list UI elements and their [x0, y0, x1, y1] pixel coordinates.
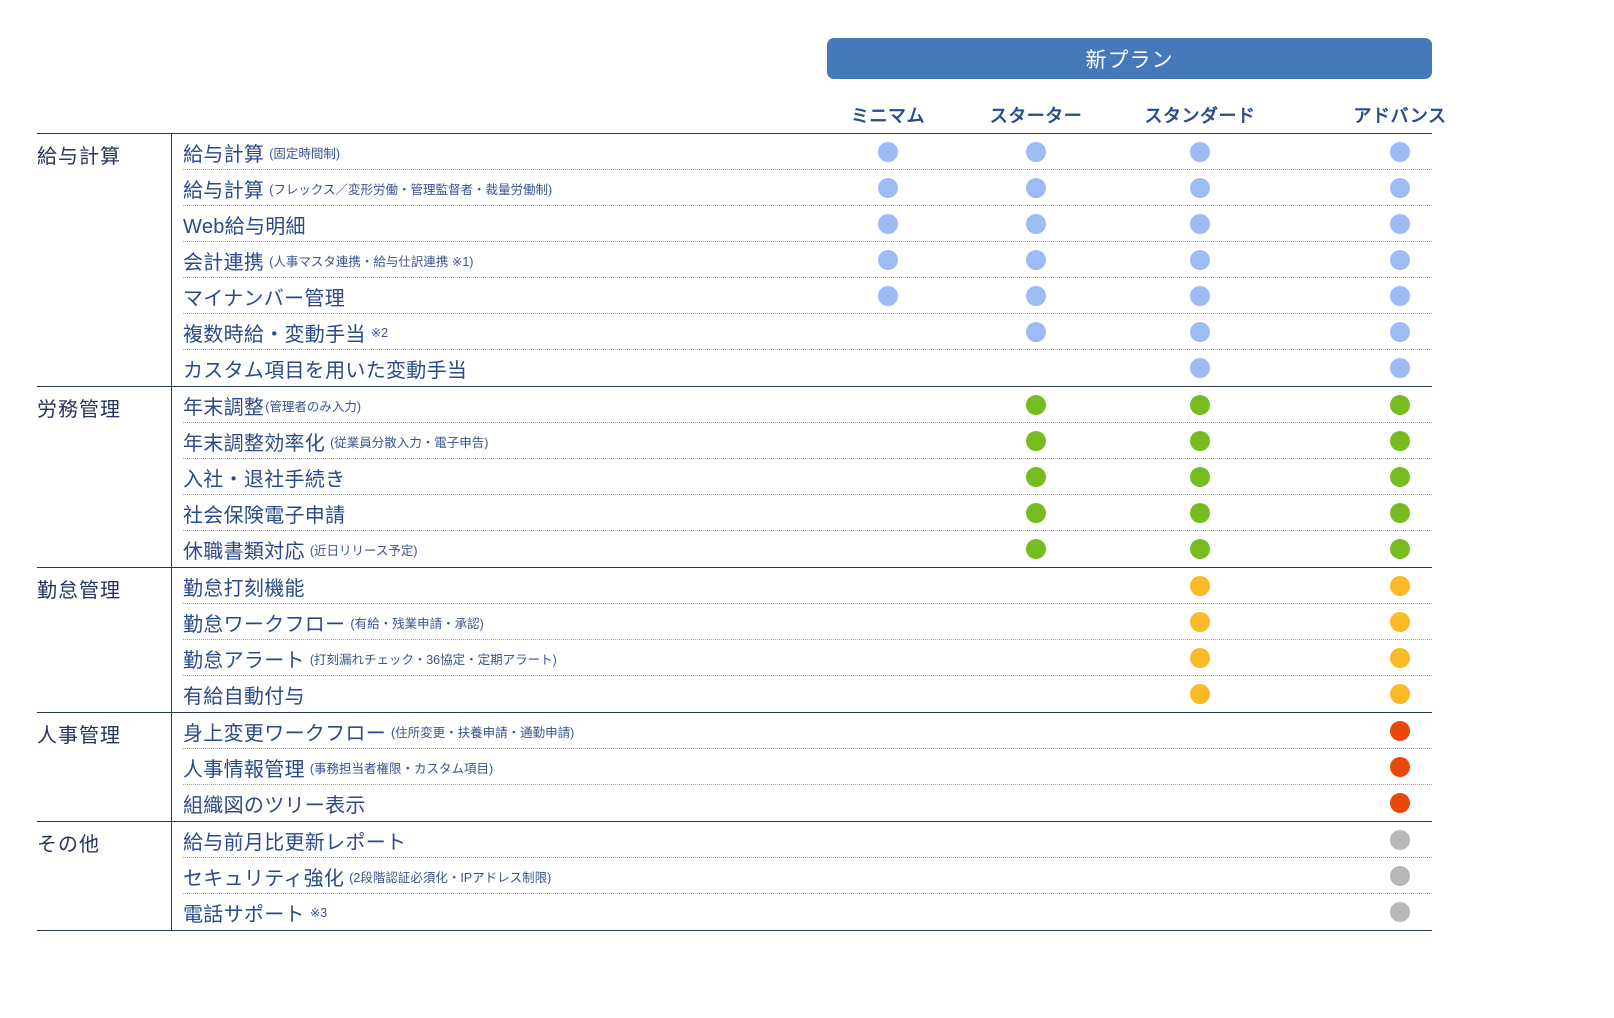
availability-dot-minimum — [878, 214, 898, 234]
availability-dot-standard — [1190, 684, 1210, 704]
feature-name: 給与計算 — [183, 138, 264, 167]
feature-row: 休職書類対応(近日リリース予定) — [183, 531, 1432, 567]
group-rows: 給与前月比更新レポートセキュリティ強化(2段階認証必須化・IPアドレス制限)電話… — [183, 822, 1432, 930]
feature-row: 組織図のツリー表示 — [183, 785, 1432, 821]
column-header-minimum: ミニマム — [851, 102, 925, 128]
availability-dot-advance — [1390, 431, 1410, 451]
feature-row: 給与計算(フレックス／変形労働・管理監督者・裁量労働制) — [183, 170, 1432, 206]
feature-note: ※3 — [310, 905, 327, 920]
category-label-0: 給与計算 — [37, 134, 163, 169]
availability-dot-starter — [1026, 286, 1046, 306]
availability-dot-advance — [1390, 866, 1410, 886]
feature-name: 勤怠アラート — [183, 644, 305, 673]
feature-label: 組織図のツリー表示 — [183, 785, 366, 821]
category-label-1: 労務管理 — [37, 387, 163, 422]
availability-dot-standard — [1190, 395, 1210, 415]
feature-name: 有給自動付与 — [183, 680, 305, 709]
feature-group: 人事管理身上変更ワークフロー(住所変更・扶養申請・通勤申請)人事情報管理(事務担… — [37, 712, 1432, 821]
feature-label: 有給自動付与 — [183, 676, 305, 712]
availability-dot-starter — [1026, 250, 1046, 270]
feature-row: 勤怠ワークフロー(有給・残業申請・承認) — [183, 604, 1432, 640]
availability-dot-starter — [1026, 214, 1046, 234]
feature-group: その他給与前月比更新レポートセキュリティ強化(2段階認証必須化・IPアドレス制限… — [37, 821, 1432, 930]
availability-dot-advance — [1390, 322, 1410, 342]
feature-row: 給与前月比更新レポート — [183, 822, 1432, 858]
group-body: 人事管理身上変更ワークフロー(住所変更・扶養申請・通勤申請)人事情報管理(事務担… — [37, 713, 1432, 821]
availability-dot-standard — [1190, 214, 1210, 234]
availability-dot-standard — [1190, 250, 1210, 270]
group-body: その他給与前月比更新レポートセキュリティ強化(2段階認証必須化・IPアドレス制限… — [37, 822, 1432, 930]
feature-name: 勤怠ワークフロー — [183, 608, 345, 637]
feature-row: 会計連携(人事マスタ連携・給与仕訳連携 ※1) — [183, 242, 1432, 278]
feature-label: 年末調整効率化(従業員分散入力・電子申告) — [183, 423, 488, 459]
column-header-standard: スタンダード — [1145, 102, 1256, 128]
feature-note: (人事マスタ連携・給与仕訳連携 ※1) — [269, 251, 473, 270]
feature-note: (2段階認証必須化・IPアドレス制限) — [349, 867, 551, 886]
group-body: 勤怠管理勤怠打刻機能勤怠ワークフロー(有給・残業申請・承認)勤怠アラート(打刻漏… — [37, 568, 1432, 712]
feature-note: (住所変更・扶養申請・通勤申請) — [391, 722, 574, 741]
availability-dot-starter — [1026, 178, 1046, 198]
table-bottom-divider — [37, 930, 1432, 931]
feature-name: 身上変更ワークフロー — [183, 717, 386, 746]
feature-name: 組織図のツリー表示 — [183, 789, 366, 818]
availability-dot-advance — [1390, 830, 1410, 850]
availability-dot-minimum — [878, 286, 898, 306]
feature-label: カスタム項目を用いた変動手当 — [183, 350, 467, 386]
availability-dot-advance — [1390, 395, 1410, 415]
comparison-sheet: 新プラン ミニマムスタータースタンダードアドバンス 給与計算給与計算(固定時間制… — [0, 0, 1614, 1018]
availability-dot-standard — [1190, 467, 1210, 487]
availability-dot-advance — [1390, 612, 1410, 632]
availability-dot-advance — [1390, 684, 1410, 704]
availability-dot-advance — [1390, 214, 1410, 234]
availability-dot-standard — [1190, 576, 1210, 596]
feature-note: (事務担当者権限・カスタム項目) — [310, 758, 493, 777]
feature-name: セキュリティ強化 — [183, 862, 344, 891]
availability-dot-standard — [1190, 648, 1210, 668]
feature-name: 電話サポート — [183, 898, 305, 927]
column-header-starter: スターター — [990, 102, 1083, 128]
feature-row: 有給自動付与 — [183, 676, 1432, 712]
category-column-divider — [171, 134, 172, 386]
feature-table: 給与計算給与計算(固定時間制)給与計算(フレックス／変形労働・管理監督者・裁量労… — [37, 133, 1432, 931]
feature-label: 会計連携(人事マスタ連携・給与仕訳連携 ※1) — [183, 242, 473, 278]
feature-label: 社会保険電子申請 — [183, 495, 345, 531]
availability-dot-advance — [1390, 467, 1410, 487]
feature-name: 給与計算 — [183, 174, 264, 203]
availability-dot-standard — [1190, 358, 1210, 378]
feature-row: 人事情報管理(事務担当者権限・カスタム項目) — [183, 749, 1432, 785]
feature-group: 勤怠管理勤怠打刻機能勤怠ワークフロー(有給・残業申請・承認)勤怠アラート(打刻漏… — [37, 567, 1432, 712]
availability-dot-advance — [1390, 250, 1410, 270]
feature-note: (従業員分散入力・電子申告) — [330, 432, 488, 451]
availability-dot-advance — [1390, 539, 1410, 559]
group-rows: 勤怠打刻機能勤怠ワークフロー(有給・残業申請・承認)勤怠アラート(打刻漏れチェッ… — [183, 568, 1432, 712]
availability-dot-advance — [1390, 721, 1410, 741]
feature-row: 身上変更ワークフロー(住所変更・扶養申請・通勤申請) — [183, 713, 1432, 749]
feature-label: 年末調整(管理者のみ入力) — [183, 387, 361, 423]
availability-dot-advance — [1390, 178, 1410, 198]
feature-name: 人事情報管理 — [183, 753, 305, 782]
availability-dot-starter — [1026, 431, 1046, 451]
category-label-2: 勤怠管理 — [37, 568, 163, 603]
group-rows: 身上変更ワークフロー(住所変更・扶養申請・通勤申請)人事情報管理(事務担当者権限… — [183, 713, 1432, 821]
category-column-divider — [171, 822, 172, 930]
plan-banner-title: 新プラン — [1086, 44, 1174, 74]
feature-label: 給与計算(固定時間制) — [183, 134, 340, 170]
feature-note: (有給・残業申請・承認) — [350, 613, 483, 632]
feature-name: カスタム項目を用いた変動手当 — [183, 354, 467, 383]
availability-dot-starter — [1026, 322, 1046, 342]
feature-name: 会計連携 — [183, 246, 264, 275]
availability-dot-standard — [1190, 539, 1210, 559]
feature-label: セキュリティ強化(2段階認証必須化・IPアドレス制限) — [183, 858, 551, 894]
feature-label: 人事情報管理(事務担当者権限・カスタム項目) — [183, 749, 493, 785]
group-body: 給与計算給与計算(固定時間制)給与計算(フレックス／変形労働・管理監督者・裁量労… — [37, 134, 1432, 386]
feature-label: 身上変更ワークフロー(住所変更・扶養申請・通勤申請) — [183, 713, 574, 749]
feature-name: マイナンバー管理 — [183, 282, 345, 311]
feature-note: (打刻漏れチェック・36協定・定期アラート) — [310, 649, 557, 668]
feature-row: マイナンバー管理 — [183, 278, 1432, 314]
feature-row: Web給与明細 — [183, 206, 1432, 242]
availability-dot-standard — [1190, 142, 1210, 162]
feature-name: 入社・退社手続き — [183, 463, 345, 492]
availability-dot-minimum — [878, 178, 898, 198]
availability-dot-starter — [1026, 539, 1046, 559]
availability-dot-advance — [1390, 358, 1410, 378]
availability-dot-advance — [1390, 902, 1410, 922]
feature-row: 給与計算(固定時間制) — [183, 134, 1432, 170]
availability-dot-standard — [1190, 503, 1210, 523]
plan-banner: 新プラン — [827, 38, 1432, 79]
feature-note: (フレックス／変形労働・管理監督者・裁量労働制) — [269, 179, 552, 198]
availability-dot-advance — [1390, 286, 1410, 306]
category-column-divider — [171, 568, 172, 712]
feature-row: 年末調整(管理者のみ入力) — [183, 387, 1432, 423]
feature-row: 電話サポート※3 — [183, 894, 1432, 930]
feature-name: 休職書類対応 — [183, 535, 305, 564]
feature-group: 給与計算給与計算(固定時間制)給与計算(フレックス／変形労働・管理監督者・裁量労… — [37, 133, 1432, 386]
feature-note: (管理者のみ入力) — [265, 396, 361, 415]
availability-dot-advance — [1390, 503, 1410, 523]
feature-row: 入社・退社手続き — [183, 459, 1432, 495]
feature-label: 休職書類対応(近日リリース予定) — [183, 531, 418, 567]
feature-name: 複数時給・変動手当 — [183, 318, 366, 347]
availability-dot-standard — [1190, 178, 1210, 198]
availability-dot-minimum — [878, 142, 898, 162]
column-header-row: ミニマムスタータースタンダードアドバンス — [0, 102, 1614, 128]
group-rows: 年末調整(管理者のみ入力)年末調整効率化(従業員分散入力・電子申告)入社・退社手… — [183, 387, 1432, 567]
group-rows: 給与計算(固定時間制)給与計算(フレックス／変形労働・管理監督者・裁量労働制)W… — [183, 134, 1432, 386]
feature-row: 勤怠打刻機能 — [183, 568, 1432, 604]
feature-note: (固定時間制) — [269, 143, 340, 162]
category-column-divider — [171, 713, 172, 821]
availability-dot-standard — [1190, 322, 1210, 342]
availability-dot-standard — [1190, 286, 1210, 306]
feature-note: (近日リリース予定) — [310, 540, 418, 559]
feature-note: ※2 — [371, 325, 388, 340]
feature-row: カスタム項目を用いた変動手当 — [183, 350, 1432, 386]
availability-dot-standard — [1190, 431, 1210, 451]
group-body: 労務管理年末調整(管理者のみ入力)年末調整効率化(従業員分散入力・電子申告)入社… — [37, 387, 1432, 567]
feature-label: 勤怠アラート(打刻漏れチェック・36協定・定期アラート) — [183, 640, 557, 676]
feature-label: Web給与明細 — [183, 206, 306, 242]
feature-name: 給与前月比更新レポート — [183, 826, 406, 855]
feature-group: 労務管理年末調整(管理者のみ入力)年末調整効率化(従業員分散入力・電子申告)入社… — [37, 386, 1432, 567]
feature-name: Web給与明細 — [183, 210, 306, 239]
feature-label: 入社・退社手続き — [183, 459, 345, 495]
feature-label: 勤怠ワークフロー(有給・残業申請・承認) — [183, 604, 484, 640]
availability-dot-starter — [1026, 395, 1046, 415]
feature-row: 社会保険電子申請 — [183, 495, 1432, 531]
category-column-divider — [171, 387, 172, 567]
availability-dot-minimum — [878, 250, 898, 270]
feature-label: 勤怠打刻機能 — [183, 568, 305, 604]
feature-label: 給与計算(フレックス／変形労働・管理監督者・裁量労働制) — [183, 170, 552, 206]
availability-dot-starter — [1026, 142, 1046, 162]
feature-label: 電話サポート※3 — [183, 894, 327, 930]
availability-dot-standard — [1190, 612, 1210, 632]
feature-label: マイナンバー管理 — [183, 278, 345, 314]
availability-dot-advance — [1390, 793, 1410, 813]
feature-name: 勤怠打刻機能 — [183, 572, 305, 601]
feature-row: 勤怠アラート(打刻漏れチェック・36協定・定期アラート) — [183, 640, 1432, 676]
feature-label: 複数時給・変動手当※2 — [183, 314, 388, 350]
feature-row: 年末調整効率化(従業員分散入力・電子申告) — [183, 423, 1432, 459]
category-label-3: 人事管理 — [37, 713, 163, 748]
feature-row: 複数時給・変動手当※2 — [183, 314, 1432, 350]
availability-dot-advance — [1390, 142, 1410, 162]
feature-label: 給与前月比更新レポート — [183, 822, 406, 858]
availability-dot-starter — [1026, 467, 1046, 487]
feature-row: セキュリティ強化(2段階認証必須化・IPアドレス制限) — [183, 858, 1432, 894]
feature-name: 年末調整 — [183, 391, 264, 420]
feature-name: 社会保険電子申請 — [183, 499, 345, 528]
availability-dot-advance — [1390, 757, 1410, 777]
availability-dot-advance — [1390, 576, 1410, 596]
availability-dot-advance — [1390, 648, 1410, 668]
availability-dot-starter — [1026, 503, 1046, 523]
category-label-4: その他 — [37, 822, 163, 857]
feature-name: 年末調整効率化 — [183, 427, 325, 456]
column-header-advance: アドバンス — [1353, 102, 1446, 128]
